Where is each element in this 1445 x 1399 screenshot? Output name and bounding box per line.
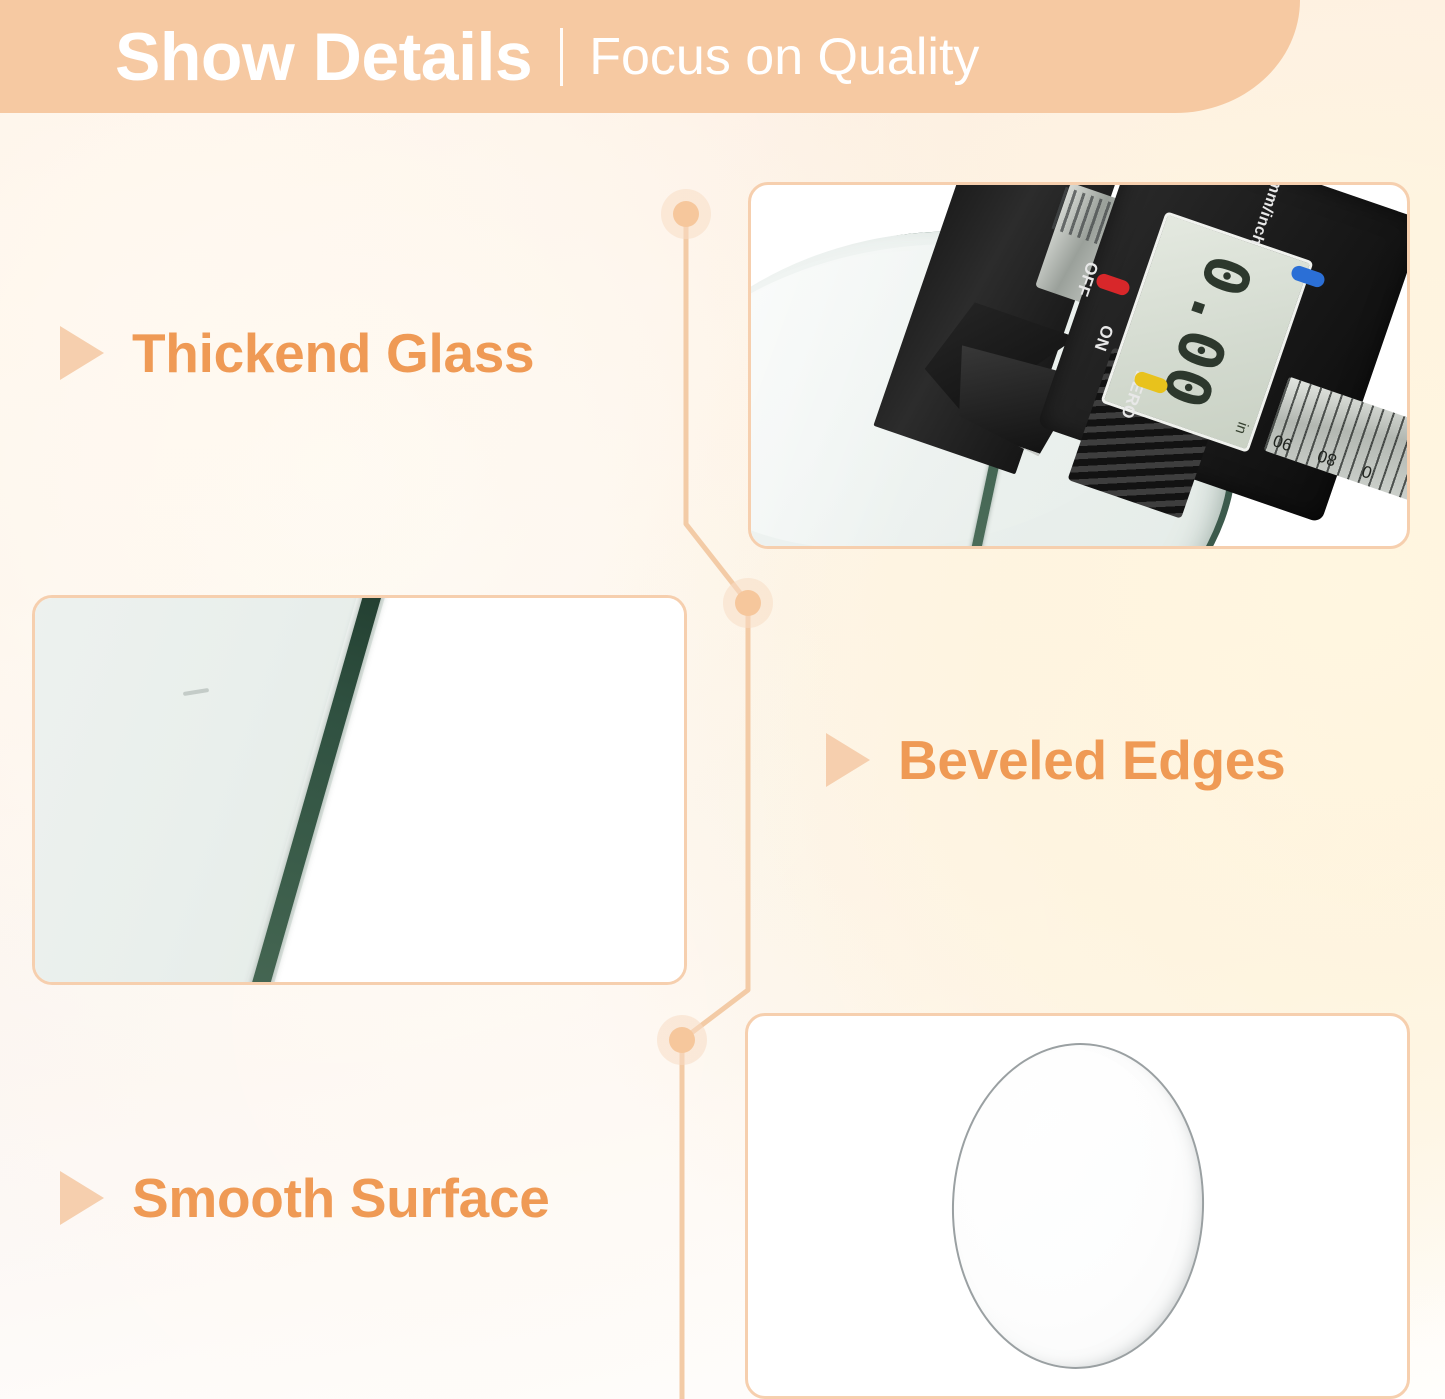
feature-label-text: Beveled Edges bbox=[898, 728, 1285, 792]
triangle-right-icon bbox=[60, 1171, 104, 1225]
caliper-display-unit: in bbox=[1232, 420, 1252, 437]
infographic-canvas: Show Details Focus on Quality Thickend G… bbox=[0, 0, 1445, 1399]
photo-panel-beveled-edge bbox=[32, 595, 687, 985]
banner-divider bbox=[560, 28, 563, 86]
smooth-disc-photo bbox=[748, 1016, 1407, 1396]
feature-label-beveled-edges: Beveled Edges bbox=[826, 728, 1285, 792]
photo-panel-smooth-disc bbox=[745, 1013, 1410, 1399]
photo-panel-caliper: 0.00 in mm/inch OFF ON ZERO 0 80 90 bbox=[748, 182, 1410, 549]
banner-title: Show Details bbox=[115, 23, 532, 91]
feature-label-thickend-glass: Thickend Glass bbox=[60, 321, 534, 385]
feature-label-text: Smooth Surface bbox=[132, 1166, 550, 1230]
feature-label-smooth-surface: Smooth Surface bbox=[60, 1166, 550, 1230]
caliper-display-value: 0.00 bbox=[1147, 246, 1267, 419]
caliper-photo: 0.00 in mm/inch OFF ON ZERO 0 80 90 bbox=[751, 185, 1407, 546]
banner-subtitle: Focus on Quality bbox=[589, 31, 979, 83]
feature-label-text: Thickend Glass bbox=[132, 321, 534, 385]
header-banner: Show Details Focus on Quality bbox=[0, 0, 1300, 113]
beveled-edge-photo bbox=[35, 598, 684, 982]
triangle-right-icon bbox=[826, 733, 870, 787]
triangle-right-icon bbox=[60, 326, 104, 380]
